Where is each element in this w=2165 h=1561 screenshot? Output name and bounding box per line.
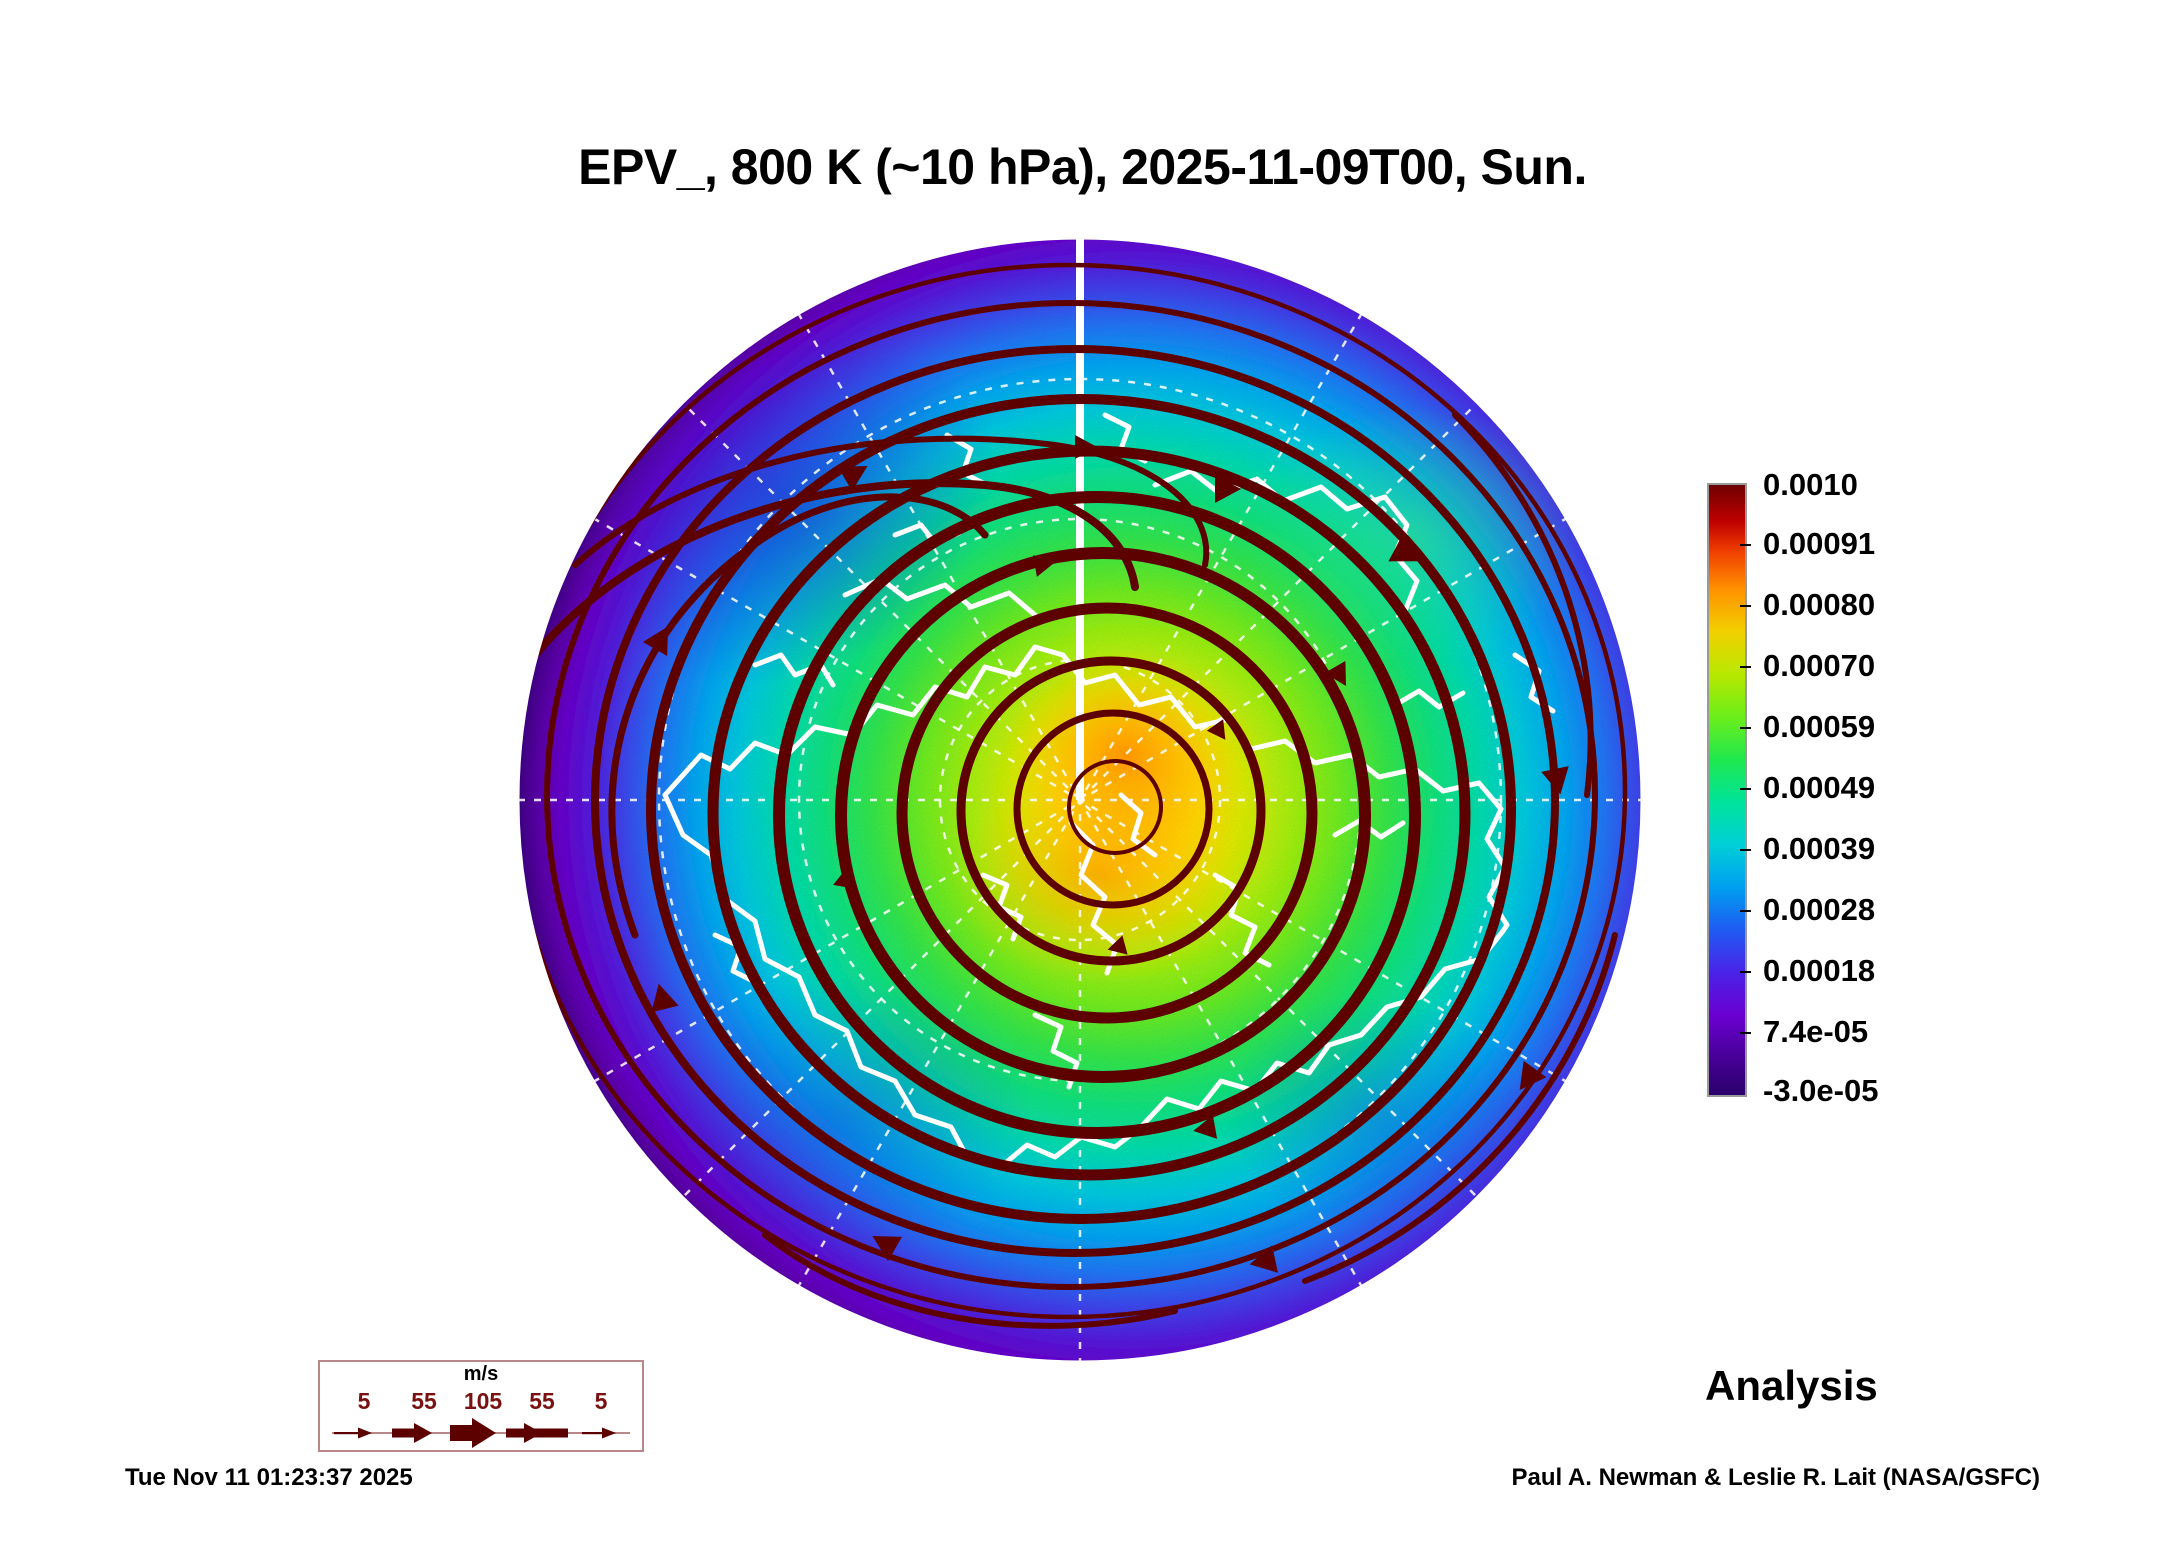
colorbar-label: 0.00080	[1763, 587, 1875, 623]
polar-map-svg[interactable]	[515, 235, 1645, 1365]
wind-value: 105	[464, 1388, 502, 1415]
colorbar-label: 0.0010	[1763, 467, 1858, 503]
colorbar-tick	[1740, 605, 1751, 607]
wind-value: 55	[411, 1388, 437, 1415]
colorbar-label: 0.00091	[1763, 526, 1875, 562]
colorbar-tick	[1740, 910, 1751, 912]
colorbar-tick	[1740, 727, 1751, 729]
generation-timestamp: Tue Nov 11 01:23:37 2025	[125, 1464, 413, 1492]
colorbar-tick	[1740, 788, 1751, 790]
polar-map-panel[interactable]	[515, 235, 1645, 1365]
colorbar-tick	[1740, 1032, 1751, 1034]
wind-value: 5	[595, 1388, 608, 1415]
wind-arrow-scale	[320, 1418, 642, 1448]
colorbar-tick	[1740, 849, 1751, 851]
page-title: EPV_, 800 K (~10 hPa), 2025-11-09T00, Su…	[0, 138, 2165, 196]
colorbar-label: 0.00059	[1763, 709, 1875, 745]
wind-value: 55	[529, 1388, 555, 1415]
colorbar-label: 0.00049	[1763, 770, 1875, 806]
colorbar-label: -3.0e-05	[1763, 1073, 1878, 1109]
colorbar-label: 0.00028	[1763, 892, 1875, 928]
colorbar-tick	[1740, 544, 1751, 546]
colorbar-label: 0.00039	[1763, 831, 1875, 867]
colorbar-label: 0.00070	[1763, 648, 1875, 684]
colorbar-tick	[1740, 666, 1751, 668]
colorbar-tick	[1740, 971, 1751, 973]
colorbar-gradient	[1707, 483, 1747, 1097]
author-credit: Paul A. Newman & Leslie R. Lait (NASA/GS…	[1511, 1464, 2040, 1492]
colorbar-label: 7.4e-05	[1763, 1014, 1868, 1050]
wind-value: 5	[358, 1388, 371, 1415]
wind-speed-legend: m/s 5 55 105 55 5	[318, 1360, 644, 1452]
analysis-label: Analysis	[1705, 1362, 1878, 1410]
colorbar-panel[interactable]: 0.0010 0.00091 0.00080 0.00070 0.00059 0…	[1700, 476, 2100, 1106]
colorbar-label: 0.00018	[1763, 953, 1875, 989]
wind-unit-label: m/s	[320, 1363, 642, 1386]
